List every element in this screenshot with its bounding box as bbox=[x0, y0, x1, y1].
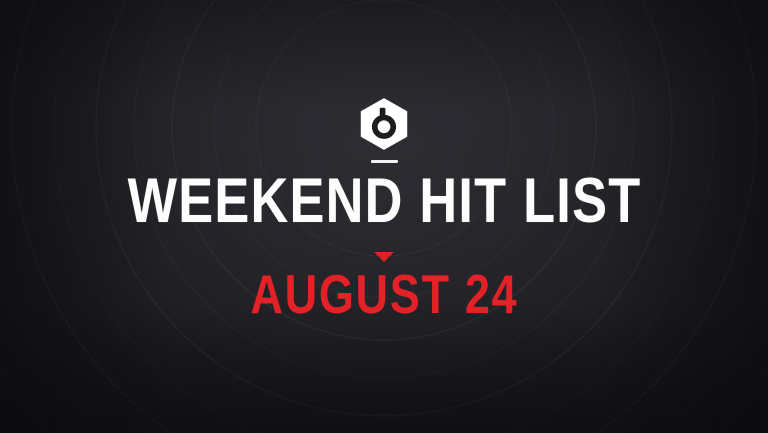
weekend-hit-list-title-card: WEEKEND HIT LIST AUGUST 24 bbox=[0, 0, 768, 433]
triangle-down-icon bbox=[374, 252, 394, 262]
divider-rule bbox=[371, 160, 398, 163]
title-card-content: WEEKEND HIT LIST AUGUST 24 bbox=[0, 0, 768, 433]
beats-hexagon-logo-icon bbox=[357, 97, 411, 151]
date-subtitle: AUGUST 24 bbox=[250, 272, 518, 316]
page-title: WEEKEND HIT LIST bbox=[127, 177, 641, 226]
